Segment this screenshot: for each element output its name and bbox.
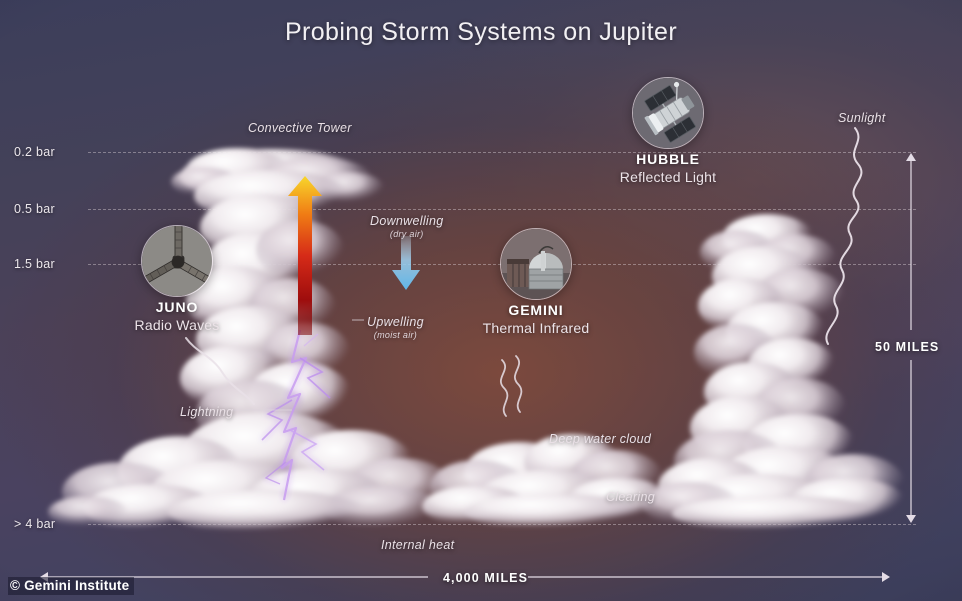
cloud-left-tower	[48, 148, 452, 534]
juno-caption: JUNO Radio Waves	[135, 299, 220, 333]
hubble-caption: HUBBLE Reflected Light	[620, 151, 716, 185]
annotation-sunlight-text: Sunlight	[838, 111, 886, 125]
annotation-clearing-text: Clearing	[606, 490, 655, 504]
credit-label: © Gemini Institute	[8, 577, 134, 595]
gemini-infrared-waves	[501, 356, 522, 416]
gemini-caption: GEMINI Thermal Infrared	[483, 302, 590, 336]
gemini-name: GEMINI	[483, 302, 590, 318]
annotation-lightning-text: Lightning	[180, 405, 233, 419]
annotation-convective-tower-text: Convective Tower	[248, 121, 352, 135]
juno-spacecraft-icon	[141, 225, 213, 297]
juno-measurement: Radio Waves	[135, 317, 220, 333]
annotation-downwelling-sub: (dry air)	[370, 229, 443, 239]
infographic-canvas: Probing Storm Systems on Jupiter 0.2 bar…	[0, 0, 962, 601]
annotation-downwelling: Downwelling (dry air)	[370, 214, 443, 239]
gemini-observatory-icon	[500, 228, 572, 300]
annotation-lightning: Lightning	[180, 405, 233, 419]
annotation-downwelling-text: Downwelling	[370, 214, 443, 228]
instrument-badge-juno[interactable]: JUNO Radio Waves	[141, 225, 213, 297]
instrument-badge-gemini[interactable]: GEMINI Thermal Infrared	[500, 228, 572, 300]
downwelling-arrow	[392, 236, 420, 290]
cloud-middle-deck	[422, 434, 672, 530]
annotation-upwelling: Upwelling (moist air)	[367, 315, 424, 340]
vertical-measure-label: 50 MILES	[875, 340, 939, 354]
cloud-right-tower	[642, 214, 906, 532]
annotation-internal-heat-text: Internal heat	[381, 538, 454, 552]
annotation-convective-tower: Convective Tower	[248, 121, 352, 135]
hubble-measurement: Reflected Light	[620, 169, 716, 185]
annotation-deep-water-cloud: Deep water cloud	[549, 432, 651, 446]
juno-name: JUNO	[135, 299, 220, 315]
instrument-badge-hubble[interactable]: HUBBLE Reflected Light	[632, 77, 704, 149]
hubble-name: HUBBLE	[620, 151, 716, 167]
gemini-measurement: Thermal Infrared	[483, 320, 590, 336]
annotation-sunlight: Sunlight	[838, 111, 886, 125]
annotation-upwelling-sub: (moist air)	[367, 330, 424, 340]
hubble-telescope-icon	[632, 77, 704, 149]
annotation-clearing: Clearing	[606, 490, 655, 504]
annotation-internal-heat: Internal heat	[381, 538, 454, 552]
vertical-measure-axis	[906, 153, 916, 523]
annotation-deep-water-cloud-text: Deep water cloud	[549, 432, 651, 446]
horizontal-measure-label: 4,000 MILES	[443, 571, 528, 585]
annotation-upwelling-text: Upwelling	[367, 315, 424, 329]
